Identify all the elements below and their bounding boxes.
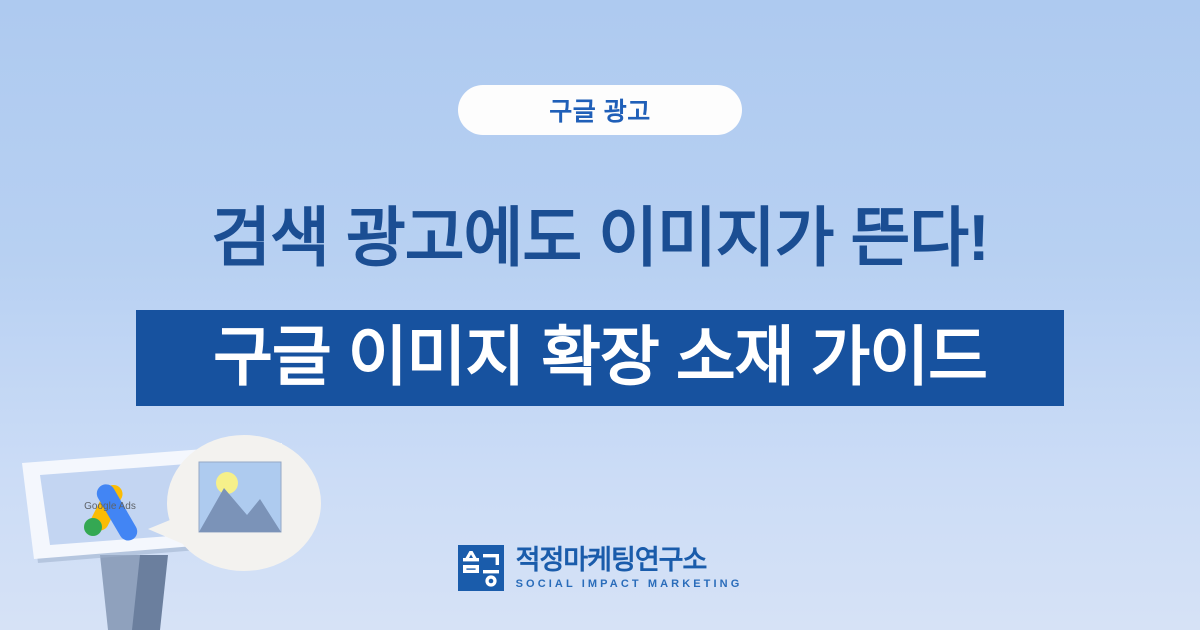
monitor-label: Google Ads xyxy=(84,501,136,512)
headline-line-1: 검색 광고에도 이미지가 뜬다! xyxy=(0,203,1200,273)
category-badge: 구글 광고 xyxy=(458,85,742,135)
company-tagline: SOCIAL IMPACT MARKETING xyxy=(516,578,743,590)
jeokjeong-square-logo-icon xyxy=(458,545,504,591)
google-ads-illustration: Google Ads xyxy=(0,425,340,630)
company-name: 적정마케팅연구소 xyxy=(516,546,707,576)
footer-logo: 적정마케팅연구소 SOCIAL IMPACT MARKETING xyxy=(0,545,1200,591)
image-placeholder-icon xyxy=(199,462,281,532)
headline-band: 구글 이미지 확장 소재 가이드 xyxy=(136,310,1064,406)
category-badge-label: 구글 광고 xyxy=(549,92,650,128)
logo-text-block: 적정마케팅연구소 SOCIAL IMPACT MARKETING xyxy=(516,546,743,590)
headline-line-2: 구글 이미지 확장 소재 가이드 xyxy=(213,324,987,393)
